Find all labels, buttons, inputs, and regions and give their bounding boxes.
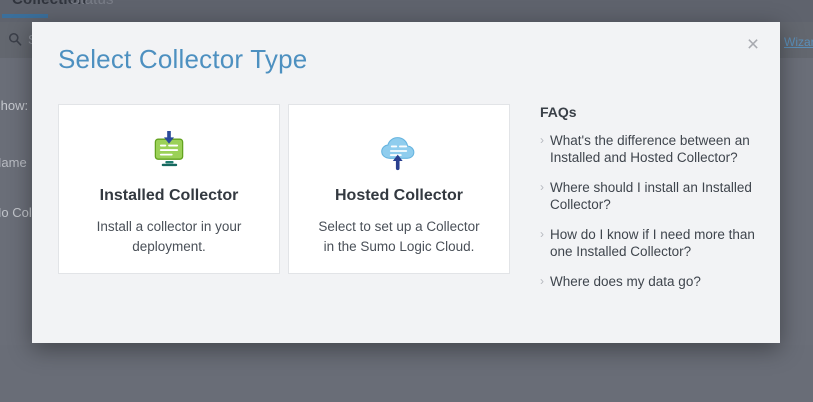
dialog-title: Select Collector Type — [58, 44, 307, 75]
background-tab-bar: Collection Status — [0, 0, 813, 22]
chevron-right-icon: › — [540, 179, 550, 196]
chevron-right-icon: › — [540, 226, 550, 243]
installed-collector-title: Installed Collector — [100, 187, 239, 205]
chevron-right-icon: › — [540, 132, 550, 149]
close-icon[interactable]: × — [742, 34, 764, 56]
dialog-body: Installed Collector Install a collector … — [58, 104, 762, 303]
faq-item-label: How do I know if I need more than one In… — [550, 226, 758, 260]
show-filter-label: Show: — [0, 98, 28, 113]
faq-panel: FAQs › What's the difference between an … — [540, 104, 758, 303]
wizard-link[interactable]: Wizard — [784, 35, 813, 49]
faq-heading: FAQs — [540, 104, 758, 120]
column-header-name: Name — [0, 155, 27, 170]
collector-type-cards: Installed Collector Install a collector … — [58, 104, 510, 274]
faq-item-label: Where does my data go? — [550, 273, 701, 290]
faq-item-how-many[interactable]: › How do I know if I need more than one … — [540, 226, 758, 260]
faq-item-label: What's the difference between an Install… — [550, 132, 758, 166]
installed-collector-monitor-icon — [147, 129, 191, 173]
active-tab-indicator — [2, 14, 48, 18]
hosted-collector-card[interactable]: Hosted Collector Select to set up a Coll… — [288, 104, 510, 274]
chevron-right-icon: › — [540, 273, 550, 290]
hosted-collector-title: Hosted Collector — [335, 187, 463, 205]
faq-item-where-install[interactable]: › Where should I install an Installed Co… — [540, 179, 758, 213]
select-collector-type-dialog: × Select Collector Type — [32, 22, 780, 343]
installed-collector-card[interactable]: Installed Collector Install a collector … — [58, 104, 280, 274]
faq-item-difference[interactable]: › What's the difference between an Insta… — [540, 132, 758, 166]
background-lower-panel — [0, 345, 813, 402]
faq-item-data-destination[interactable]: › Where does my data go? — [540, 273, 758, 290]
hosted-collector-description: Select to set up a Collector in the Sumo… — [314, 217, 484, 256]
hosted-collector-cloud-icon — [377, 129, 421, 173]
search-icon[interactable] — [8, 32, 22, 46]
faq-item-label: Where should I install an Installed Coll… — [550, 179, 758, 213]
installed-collector-description: Install a collector in your deployment. — [84, 217, 254, 256]
tab-status[interactable]: Status — [70, 0, 114, 8]
